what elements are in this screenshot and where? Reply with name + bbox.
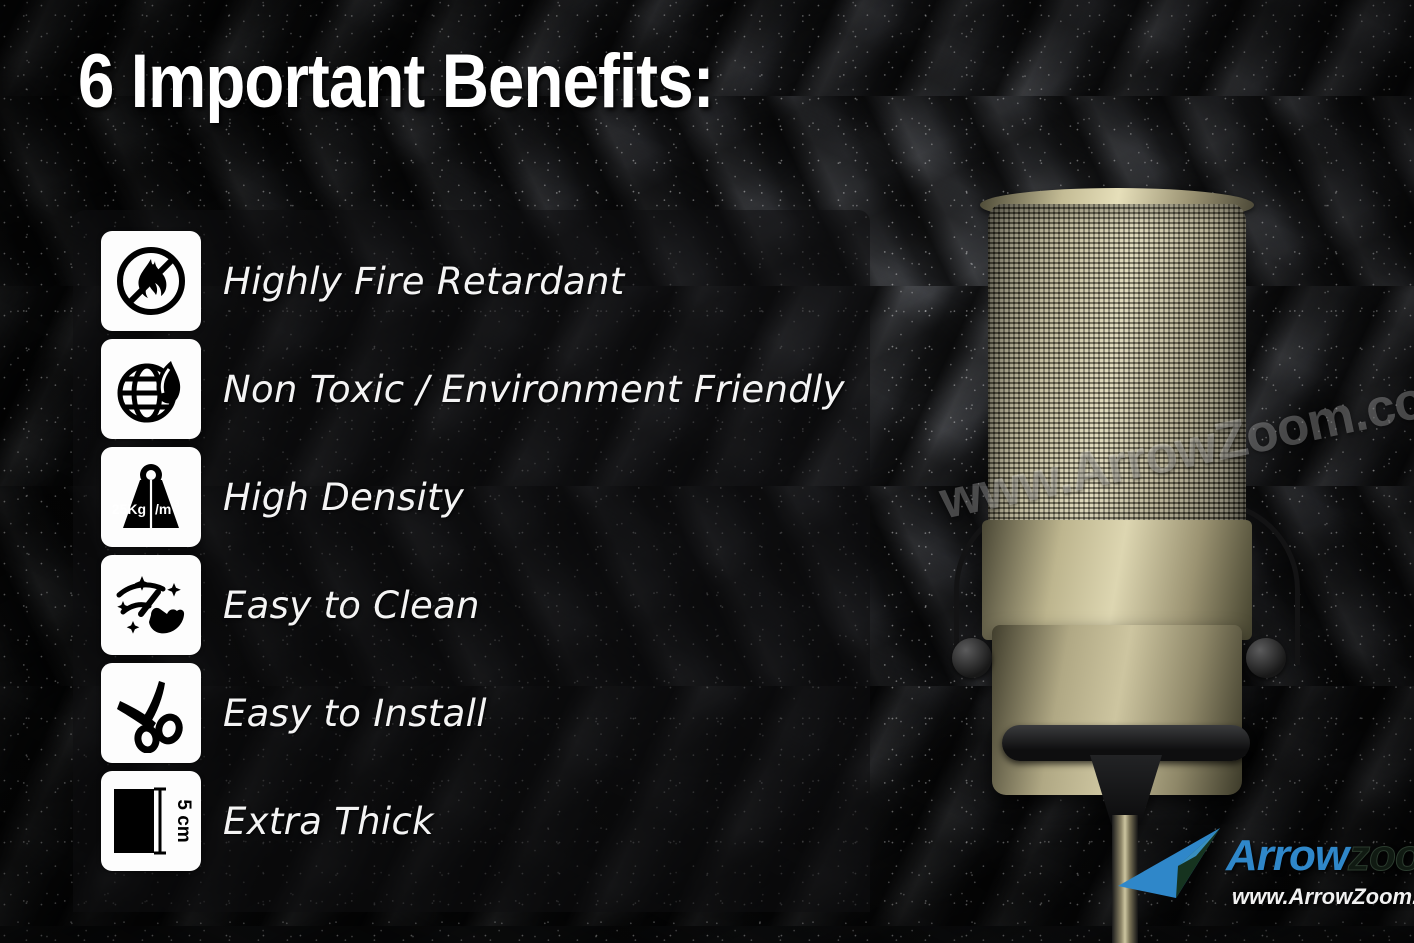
- thickness-icon: 5 cm: [101, 771, 201, 871]
- shock-mount-knob-left: [952, 638, 992, 678]
- benefit-row: Easy to Install: [101, 663, 861, 763]
- globe-leaf-icon: [101, 339, 201, 439]
- mic-body: [982, 520, 1252, 640]
- page-title: 6 Important Benefits:: [78, 44, 714, 120]
- logo-url[interactable]: www.ArrowZoom.com: [1232, 884, 1414, 910]
- logo-wordmark: Arrowzoom: [1226, 834, 1414, 878]
- mic-grille-mesh: [988, 204, 1246, 534]
- scissors-icon: [101, 663, 201, 763]
- benefits-list: Highly Fire Retardant Non Toxic / Env: [101, 231, 861, 879]
- no-fire-icon: [101, 231, 201, 331]
- arrow-logo-icon: [1116, 826, 1224, 904]
- logo-word-zoom: zoom: [1348, 831, 1414, 880]
- benefit-label: Easy to Clean: [223, 584, 480, 627]
- weight-value-text: 25Kg: [112, 501, 146, 517]
- benefit-label: Highly Fire Retardant: [223, 260, 625, 303]
- benefit-row: Highly Fire Retardant: [101, 231, 861, 331]
- benefit-label: Extra Thick: [223, 800, 434, 843]
- logo-word-arrow: Arrow: [1226, 831, 1348, 880]
- weight-exponent-text: 3: [174, 499, 180, 510]
- thickness-text: 5 cm: [173, 799, 192, 842]
- benefit-label: High Density: [223, 476, 464, 519]
- weight-icon: 25Kg /m 3: [101, 447, 201, 547]
- benefit-label: Easy to Install: [223, 692, 487, 735]
- brand-logo[interactable]: Arrowzoom www.ArrowZoom.com: [1116, 826, 1404, 926]
- weight-unit-text: /m: [155, 501, 171, 517]
- benefit-label: Non Toxic / Environment Friendly: [223, 368, 845, 411]
- benefit-row: Non Toxic / Environment Friendly: [101, 339, 861, 439]
- benefit-row: 5 cm Extra Thick: [101, 771, 861, 871]
- shock-mount-knob-right: [1246, 638, 1286, 678]
- benefit-row: 25Kg /m 3 High Density: [101, 447, 861, 547]
- infographic-canvas: www.ArrowZoom.com 6 Important Benefits: …: [0, 0, 1414, 943]
- cleaning-hand-icon: [101, 555, 201, 655]
- benefit-row: Easy to Clean: [101, 555, 861, 655]
